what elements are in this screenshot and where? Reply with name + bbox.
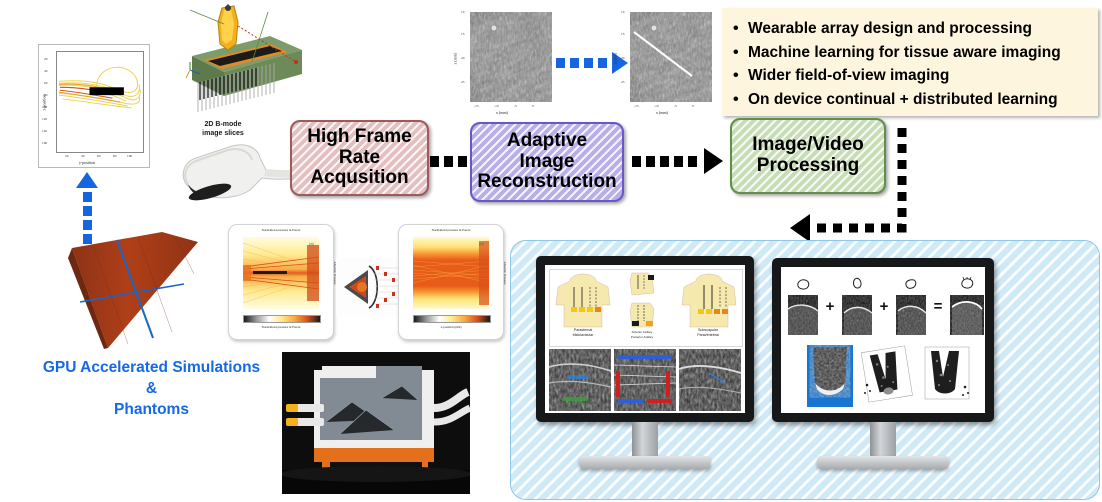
pressure-a-colorbar [243, 315, 321, 323]
bmode-label-line2: image slices [186, 129, 260, 138]
bmode-input-image [470, 12, 552, 102]
monitor-right-neck [870, 422, 896, 456]
compound-frame-result [950, 277, 984, 335]
stage-high-frame-rate-acquisition[interactable]: High Frame Rate Acqusition [290, 120, 429, 196]
monitor-left-base [579, 456, 711, 469]
monitor-right-base [817, 456, 949, 469]
ivp-line1: Image/Video [752, 135, 864, 156]
monitor-right-bezel: + + [772, 258, 994, 422]
list-item: On device continual + distributed learni… [748, 88, 1098, 112]
list-item: Machine learning for tissue aware imagin… [748, 41, 1098, 65]
sim-plot-xlabel: y-position [79, 160, 95, 165]
wavefield-curves [57, 52, 143, 152]
sim-plot-axes [56, 51, 144, 153]
gpu-caption-line3: Phantoms [14, 400, 289, 421]
aperture-icon-2 [850, 277, 864, 290]
hfr-line1: High Frame [307, 127, 412, 148]
anatomy-label-1: Parasternal Midclavicular [552, 328, 614, 339]
monitor-right[interactable]: + + [772, 258, 994, 469]
compound-frame-2 [842, 277, 872, 335]
us-clip-2 [614, 349, 676, 411]
ivp-line2: Processing [752, 156, 864, 177]
phantom-slab-3d [48, 228, 208, 353]
bmode-input-ylabel: z (mm) [453, 44, 458, 74]
svg-text:(a): (a) [309, 241, 315, 246]
bmode-input-plot: 10 15 20 25 -15 -10 -5 0 z (mm) x (mm) [448, 8, 560, 118]
air-line3: Reconstruction [477, 172, 616, 193]
phantom-slab-svg [48, 228, 208, 353]
pressure-b-xlabel: x-position (mm) [399, 325, 503, 329]
hfr-line2: Rate [307, 148, 412, 169]
aperture-icon-1 [795, 278, 811, 290]
volume-render-1 [859, 345, 915, 405]
compounding-row: + + [785, 271, 985, 341]
aperture-icon-3 [903, 278, 918, 290]
bmode-input-xlabel: x (mm) [496, 110, 508, 115]
sim-plot-ylabel: z-position [42, 83, 47, 123]
pressure-b-ylabel: Absolute Pressure [503, 253, 507, 293]
anatomy-label-2-line2: Posterior Axillary [612, 335, 672, 340]
array-beam-inset [336, 258, 406, 316]
phantom-tank-photo [282, 352, 470, 494]
reflector-rect [89, 87, 123, 95]
anatomy-label-3: Subscapular Paravertebral [676, 328, 740, 339]
anatomy-panel: Parasternal Midclavicular [549, 269, 743, 347]
transducer-array-3d [178, 4, 310, 124]
pressure-b-colorbar [413, 315, 491, 323]
research-directions-list: Wearable array design and processing Mac… [722, 8, 1098, 112]
pressure-b-image: (b) [413, 237, 489, 309]
bmode-reconstructed-image [630, 12, 712, 102]
us-clip-1 [549, 349, 611, 411]
monitor-left-screen: Parasternal Midclavicular [545, 265, 745, 413]
us-clip-3 [679, 349, 741, 411]
anatomy-label-1-line2: Midclavicular [552, 333, 614, 338]
monitor-left-neck [632, 422, 658, 456]
gpu-simulations-caption: GPU Accelerated Simulations & Phantoms [14, 358, 289, 421]
operator-plus-1: + [826, 298, 835, 315]
pressure-b-title: Normalized pressure in Pascal [399, 228, 503, 232]
svg-text:(b): (b) [479, 241, 485, 246]
research-directions-panel: Wearable array design and processing Mac… [722, 8, 1098, 116]
gpu-caption-line1: GPU Accelerated Simulations [14, 358, 289, 379]
simulation-wavefield-plot: 20 40 60 80 100 120 140 160 20 40 60 80 … [38, 44, 150, 168]
bmode-recon-xlabel: x (mm) [656, 110, 668, 115]
monitor-right-screen: + + [781, 267, 985, 413]
list-item: Wider field-of-view imaging [748, 64, 1098, 88]
curved-array-scan [807, 345, 853, 407]
operator-plus-2: + [880, 298, 889, 315]
pressure-field-plot-a: Normalized pressure in Pascal [228, 224, 334, 340]
aperture-icon-combined [959, 277, 975, 290]
pressure-field-plot-b: Normalized pressure in Pascal [398, 224, 504, 340]
monitor-left-bezel: Parasternal Midclavicular [536, 256, 754, 422]
operator-equals: = [934, 298, 943, 315]
bmode-label-line1: 2D B-mode [186, 120, 260, 129]
hfr-line3: Acqusition [307, 168, 412, 189]
compound-frame-3 [896, 277, 926, 335]
pressure-a-image: (a) [243, 237, 319, 309]
stage-image-video-processing[interactable]: Image/Video Processing [730, 118, 886, 194]
volume-render-2 [919, 345, 975, 405]
monitor-left[interactable]: Parasternal Midclavicular [536, 256, 754, 469]
array-3d-svg [178, 4, 310, 124]
gpu-caption-line2: & [14, 379, 289, 400]
air-line1: Adaptive [477, 131, 616, 152]
bmode-reconstructed-plot: 10 15 20 25 -15 -10 -5 0 z (mm) x (mm) [608, 8, 720, 118]
list-item: Wearable array design and processing [748, 17, 1098, 41]
anatomy-label-3-line2: Paravertebral [676, 333, 740, 338]
pressure-a-xlabel: Normalized pressure in Pascal [229, 325, 333, 329]
anatomy-label-2: Anterior Axillary Posterior Axillary [612, 330, 672, 339]
stage-adaptive-image-reconstruction[interactable]: Adaptive Image Reconstruction [470, 122, 624, 202]
torso-side-views [620, 271, 664, 335]
volume-row [785, 345, 981, 409]
pressure-a-title: Normalized pressure in Pascal [229, 228, 333, 232]
arrow-air-to-ivp [632, 148, 723, 174]
bmode-slices-label: 2D B-mode image slices [186, 120, 260, 138]
air-line2: Image [477, 152, 616, 173]
compound-frame-1 [788, 277, 818, 335]
bmode-recon-ylabel: z (mm) [613, 44, 618, 74]
